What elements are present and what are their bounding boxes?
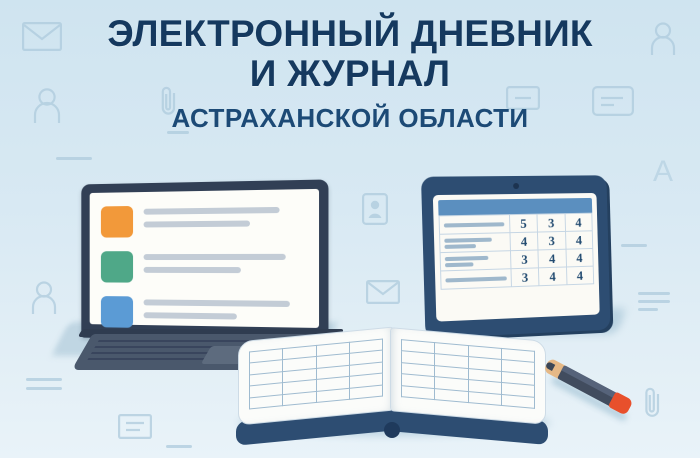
list-item-lines — [144, 203, 307, 234]
headline-line-1: ЭЛЕКТРОННЫЙ ДНЕВНИК — [0, 14, 700, 54]
grade-cell: 3 — [537, 214, 565, 232]
tablet-frame: 5 3 4 4 3 4 — [421, 175, 611, 338]
row-label — [440, 251, 511, 271]
row-label — [440, 233, 511, 253]
paperclip-icon — [641, 385, 665, 419]
row-label — [439, 215, 510, 235]
list-item — [101, 203, 307, 237]
tablet-illustration: 5 3 4 4 3 4 — [424, 176, 624, 344]
grade-cell: 4 — [538, 249, 566, 268]
text-lines-icon — [26, 378, 62, 392]
list-swatch-blue — [101, 296, 133, 328]
dash-icon — [621, 244, 647, 248]
envelope-icon — [366, 280, 400, 304]
text-line — [144, 299, 290, 307]
table-row: 3 4 4 — [441, 266, 594, 289]
laptop-lid — [81, 179, 328, 342]
dash-icon — [56, 157, 92, 161]
row-label — [441, 269, 512, 290]
grade-cell: 3 — [538, 231, 566, 250]
label-bar — [445, 262, 474, 267]
label-bar — [445, 255, 488, 260]
poster-headline: ЭЛЕКТРОННЫЙ ДНЕВНИК И ЖУРНАЛ АСТРАХАНСКО… — [0, 14, 700, 135]
list-swatch-orange — [101, 206, 133, 238]
text-lines-icon — [638, 292, 670, 316]
book-grid-left — [249, 339, 383, 410]
tablet-screen: 5 3 4 4 3 4 — [433, 193, 600, 322]
text-line — [144, 267, 242, 273]
grade-cell: 4 — [539, 267, 567, 286]
headline-line-3: АСТРАХАНСКОЙ ОБЛАСТИ — [0, 101, 700, 135]
headline-line-2: И ЖУРНАЛ — [0, 54, 700, 94]
list-item-lines — [144, 296, 307, 327]
pencil-illustration — [536, 347, 644, 431]
grade-table: 5 3 4 4 3 4 — [439, 213, 595, 290]
book-spine — [384, 422, 400, 438]
grade-cell: 5 — [509, 214, 537, 233]
book-page-left — [238, 326, 394, 425]
open-journal-illustration — [232, 326, 552, 444]
tablet-camera-icon — [513, 183, 519, 189]
book-page-right — [390, 327, 546, 425]
grade-cell: 4 — [566, 248, 594, 267]
text-line — [144, 254, 287, 260]
grade-cell: 4 — [510, 232, 538, 251]
list-item-lines — [144, 251, 307, 281]
grade-cell: 3 — [511, 268, 539, 287]
text-line — [144, 221, 250, 228]
grade-cell: 3 — [510, 250, 538, 269]
label-bar — [444, 237, 491, 242]
list-item — [101, 251, 307, 284]
book-grid-right — [401, 339, 535, 409]
id-badge-icon — [362, 193, 388, 225]
laptop-screen — [90, 189, 319, 328]
document-icon — [118, 414, 152, 439]
dash-icon — [166, 445, 192, 449]
poster-canvas: A — [0, 0, 700, 458]
label-bar — [444, 222, 504, 227]
label-bar — [445, 276, 506, 282]
list-swatch-green — [101, 251, 133, 282]
letter-a-icon: A — [653, 155, 673, 189]
grade-cell: 4 — [566, 266, 594, 285]
text-line — [144, 207, 280, 215]
label-bar — [444, 244, 476, 249]
user-icon — [31, 281, 57, 315]
grade-cell: 4 — [565, 231, 593, 249]
grade-cell: 4 — [565, 213, 593, 231]
text-line — [144, 312, 237, 319]
